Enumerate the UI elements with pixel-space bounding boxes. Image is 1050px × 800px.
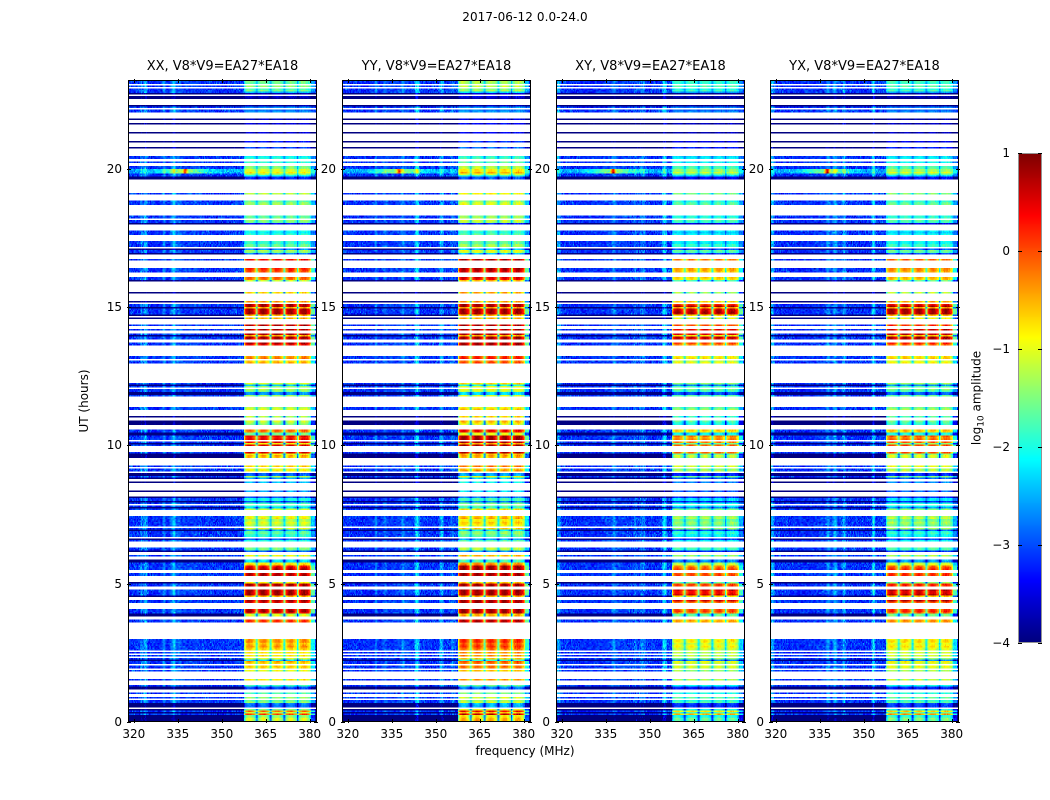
y-tick-yy-15 [341, 307, 345, 308]
y-tick-label-xy-20: 20 [535, 162, 550, 176]
x-tick-yy-335 [392, 719, 393, 723]
y-tick-xy-15 [555, 307, 559, 308]
x-tick-yy-365 [480, 79, 481, 83]
x-tick-label-xx-365: 365 [254, 727, 277, 741]
x-tick-xy-335 [606, 79, 607, 83]
x-tick-yy-380 [524, 719, 525, 723]
x-tick-label-yy-380: 380 [512, 727, 535, 741]
panel-xy: XY, V8*V9=EA27*EA18320335350365380051015… [556, 80, 745, 722]
panel-title-xy: XY, V8*V9=EA27*EA18 [575, 59, 726, 74]
x-tick-yx-320 [776, 719, 777, 723]
x-tick-label-yx-320: 320 [764, 727, 787, 741]
y-tick-label-xx-10: 10 [107, 438, 122, 452]
y-tick-xx-5 [314, 584, 318, 585]
y-tick-yy-0 [528, 722, 532, 723]
y-tick-label-xy-5: 5 [542, 577, 550, 591]
waterfall-image-yx [771, 81, 958, 721]
y-tick-yx-0 [956, 722, 960, 723]
x-tick-xx-365 [266, 719, 267, 723]
x-tick-label-yx-335: 335 [808, 727, 831, 741]
x-tick-label-xy-335: 335 [594, 727, 617, 741]
x-tick-yy-380 [524, 79, 525, 83]
x-tick-yx-365 [908, 719, 909, 723]
y-tick-xy-10 [742, 445, 746, 446]
y-tick-label-yy-0: 0 [328, 715, 336, 729]
y-tick-yy-20 [341, 169, 345, 170]
y-tick-yy-5 [528, 584, 532, 585]
y-tick-xy-15 [742, 307, 746, 308]
x-tick-xx-350 [222, 719, 223, 723]
colorbar-tick-label-4: −3 [992, 538, 1010, 552]
x-tick-label-xy-365: 365 [682, 727, 705, 741]
y-tick-yy-10 [528, 445, 532, 446]
x-tick-xy-380 [738, 79, 739, 83]
y-tick-xy-10 [555, 445, 559, 446]
y-tick-xx-10 [314, 445, 318, 446]
y-tick-yy-0 [341, 722, 345, 723]
x-tick-yx-350 [864, 719, 865, 723]
x-tick-label-xx-380: 380 [298, 727, 321, 741]
x-tick-label-yy-365: 365 [468, 727, 491, 741]
y-tick-label-xy-15: 15 [535, 300, 550, 314]
panel-axes-yx [770, 80, 959, 722]
x-tick-xx-365 [266, 79, 267, 83]
y-tick-yy-20 [528, 169, 532, 170]
panel-yx: YX, V8*V9=EA27*EA18320335350365380051015… [770, 80, 959, 722]
y-tick-label-yx-5: 5 [756, 577, 764, 591]
x-tick-yy-350 [436, 79, 437, 83]
colorbar-tick-2 [1038, 349, 1042, 350]
colorbar-tick-4 [1018, 545, 1022, 546]
x-tick-label-xy-320: 320 [550, 727, 573, 741]
y-tick-xy-20 [555, 169, 559, 170]
y-tick-xx-20 [127, 169, 131, 170]
colorbar[interactable] [1018, 153, 1042, 643]
panel-yy: YY, V8*V9=EA27*EA18320335350365380051015… [342, 80, 531, 722]
y-tick-yx-20 [769, 169, 773, 170]
y-tick-yx-5 [956, 584, 960, 585]
colorbar-tick-2 [1018, 349, 1022, 350]
waterfall-image-xx [129, 81, 316, 721]
y-tick-label-xy-0: 0 [542, 715, 550, 729]
x-tick-yx-350 [864, 79, 865, 83]
colorbar-label-text: log10 amplitude [969, 351, 983, 445]
x-tick-xx-320 [134, 719, 135, 723]
x-tick-label-xy-380: 380 [726, 727, 749, 741]
y-tick-label-yx-15: 15 [749, 300, 764, 314]
colorbar-tick-1 [1018, 251, 1022, 252]
x-tick-yx-335 [820, 719, 821, 723]
x-tick-xy-365 [694, 719, 695, 723]
colorbar-tick-4 [1038, 545, 1042, 546]
x-tick-xy-350 [650, 719, 651, 723]
y-tick-xx-15 [127, 307, 131, 308]
y-tick-yx-5 [769, 584, 773, 585]
waterfall-image-yy [343, 81, 530, 721]
x-tick-label-yy-350: 350 [424, 727, 447, 741]
y-tick-yx-0 [769, 722, 773, 723]
y-tick-xx-20 [314, 169, 318, 170]
y-tick-label-yy-15: 15 [321, 300, 336, 314]
figure-canvas: 2017-06-12 0.0-24.0 XX, V8*V9=EA27*EA183… [0, 0, 1050, 800]
x-tick-xx-335 [178, 79, 179, 83]
x-tick-xy-320 [562, 79, 563, 83]
y-tick-yx-10 [769, 445, 773, 446]
panel-title-xx: XX, V8*V9=EA27*EA18 [147, 59, 299, 74]
colorbar-tick-3 [1018, 447, 1022, 448]
x-tick-label-yx-350: 350 [852, 727, 875, 741]
colorbar-tick-1 [1038, 251, 1042, 252]
waterfall-image-xy [557, 81, 744, 721]
x-tick-yx-320 [776, 79, 777, 83]
x-tick-label-xx-335: 335 [166, 727, 189, 741]
y-tick-xy-5 [555, 584, 559, 585]
y-tick-yy-10 [341, 445, 345, 446]
colorbar-tick-label-3: −2 [992, 440, 1010, 454]
x-tick-xy-380 [738, 719, 739, 723]
x-tick-label-yx-380: 380 [940, 727, 963, 741]
x-tick-xy-335 [606, 719, 607, 723]
y-tick-yy-15 [528, 307, 532, 308]
y-tick-yx-15 [769, 307, 773, 308]
x-tick-label-yx-365: 365 [896, 727, 919, 741]
x-tick-yy-320 [348, 719, 349, 723]
y-tick-label-xy-10: 10 [535, 438, 550, 452]
x-tick-xy-320 [562, 719, 563, 723]
colorbar-label: log10 amplitude [969, 351, 986, 445]
colorbar-tick-0 [1018, 153, 1022, 154]
colorbar-tick-label-5: −4 [992, 636, 1010, 650]
y-tick-label-xx-20: 20 [107, 162, 122, 176]
y-tick-label-yy-10: 10 [321, 438, 336, 452]
x-tick-label-yy-335: 335 [380, 727, 403, 741]
y-tick-xy-0 [555, 722, 559, 723]
x-tick-yy-365 [480, 719, 481, 723]
y-tick-yx-15 [956, 307, 960, 308]
panel-axes-xx [128, 80, 317, 722]
colorbar-tick-label-0: 1 [1002, 146, 1010, 160]
y-tick-label-xx-5: 5 [114, 577, 122, 591]
x-tick-xy-350 [650, 79, 651, 83]
y-tick-label-yx-20: 20 [749, 162, 764, 176]
panel-axes-yy [342, 80, 531, 722]
colorbar-tick-3 [1038, 447, 1042, 448]
x-tick-yx-365 [908, 79, 909, 83]
colorbar-tick-5 [1038, 643, 1042, 644]
x-tick-label-yy-320: 320 [336, 727, 359, 741]
y-tick-label-xx-15: 15 [107, 300, 122, 314]
colorbar-gradient [1019, 154, 1041, 642]
panel-title-yx: YX, V8*V9=EA27*EA18 [789, 59, 940, 74]
y-tick-xx-0 [314, 722, 318, 723]
x-tick-yy-350 [436, 719, 437, 723]
x-tick-yx-335 [820, 79, 821, 83]
y-tick-xy-0 [742, 722, 746, 723]
x-tick-label-xx-350: 350 [210, 727, 233, 741]
y-tick-xx-15 [314, 307, 318, 308]
y-tick-label-yx-0: 0 [756, 715, 764, 729]
y-tick-label-yy-5: 5 [328, 577, 336, 591]
x-tick-yy-335 [392, 79, 393, 83]
x-tick-label-xx-320: 320 [122, 727, 145, 741]
x-tick-xx-335 [178, 719, 179, 723]
x-tick-xx-320 [134, 79, 135, 83]
y-tick-label-yx-10: 10 [749, 438, 764, 452]
x-tick-yx-380 [952, 719, 953, 723]
y-tick-label-xx-0: 0 [114, 715, 122, 729]
colorbar-tick-0 [1038, 153, 1042, 154]
panel-title-yy: YY, V8*V9=EA27*EA18 [362, 59, 512, 74]
panel-axes-xy [556, 80, 745, 722]
x-axis-label: frequency (MHz) [0, 744, 1050, 758]
colorbar-tick-label-1: 0 [1002, 244, 1010, 258]
x-tick-label-xy-350: 350 [638, 727, 661, 741]
x-tick-xx-380 [310, 79, 311, 83]
y-tick-label-yy-20: 20 [321, 162, 336, 176]
y-tick-yy-5 [341, 584, 345, 585]
x-tick-xx-380 [310, 719, 311, 723]
y-tick-xx-0 [127, 722, 131, 723]
y-tick-xx-5 [127, 584, 131, 585]
y-tick-xy-20 [742, 169, 746, 170]
x-tick-xx-350 [222, 79, 223, 83]
x-tick-xy-365 [694, 79, 695, 83]
y-axis-label: UT (hours) [77, 369, 91, 432]
panel-xx: XX, V8*V9=EA27*EA18320335350365380051015… [128, 80, 317, 722]
colorbar-tick-label-2: −1 [992, 342, 1010, 356]
y-tick-yx-20 [956, 169, 960, 170]
x-tick-yx-380 [952, 79, 953, 83]
figure-suptitle: 2017-06-12 0.0-24.0 [0, 10, 1050, 24]
x-tick-yy-320 [348, 79, 349, 83]
colorbar-tick-5 [1018, 643, 1022, 644]
y-tick-xx-10 [127, 445, 131, 446]
y-tick-xy-5 [742, 584, 746, 585]
y-tick-yx-10 [956, 445, 960, 446]
